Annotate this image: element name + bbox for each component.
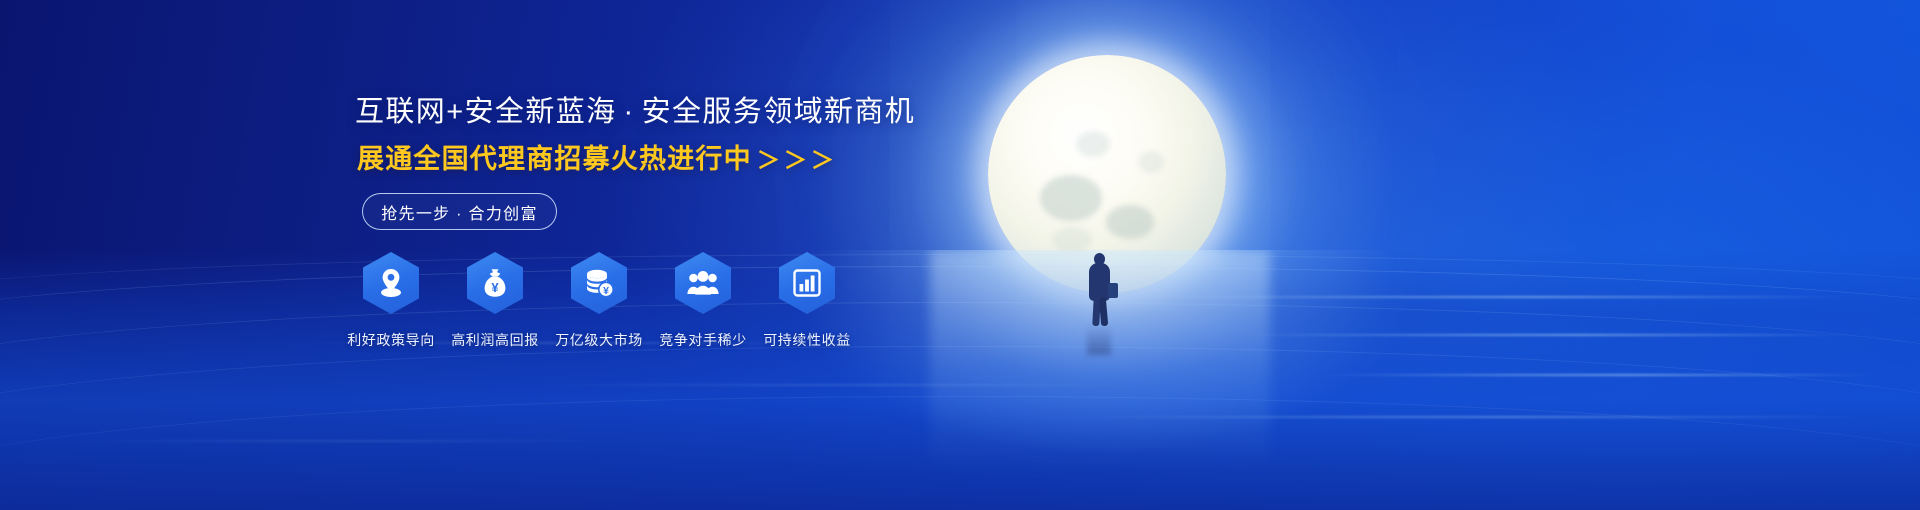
feature-label: 利好政策导向 xyxy=(347,330,435,350)
hexagon-badge xyxy=(363,252,419,314)
hexagon-badge: ¥ xyxy=(467,252,523,314)
feature-item[interactable]: ¥ 万亿级大市场 xyxy=(563,252,635,350)
cta-pill-button[interactable]: 抢先一步 · 合力创富 xyxy=(362,193,557,230)
feature-label: 竞争对手稀少 xyxy=(659,330,747,350)
hexagon-badge: ¥ xyxy=(571,252,627,314)
promo-banner: 互联网+安全新蓝海·安全服务领域新商机 展通全国代理商招募火热进行中＞＞＞ 抢先… xyxy=(0,0,1920,510)
subheadline-text: 展通全国代理商招募火热进行中 xyxy=(357,144,752,174)
svg-text:¥: ¥ xyxy=(491,280,499,295)
headline-separator: · xyxy=(617,96,642,128)
location-pin-icon xyxy=(378,268,404,298)
headline-part2: 安全服务领域新商机 xyxy=(642,96,916,128)
feature-item[interactable]: 竞争对手稀少 xyxy=(667,252,739,350)
coin-stack-yuan-icon: ¥ xyxy=(584,268,614,298)
banner-content: 互联网+安全新蓝海·安全服务领域新商机 展通全国代理商招募火热进行中＞＞＞ 抢先… xyxy=(0,0,1920,510)
banner-headline: 互联网+安全新蓝海·安全服务领域新商机 xyxy=(355,98,915,127)
headline-part1: 互联网+安全新蓝海 xyxy=(355,96,617,128)
svg-text:¥: ¥ xyxy=(603,285,609,297)
feature-label: 高利润高回报 xyxy=(451,330,539,350)
cta-pill-label: 抢先一步 · 合力创富 xyxy=(381,200,538,224)
hexagon-badge xyxy=(779,252,835,314)
chevron-right-icon: ＞＞＞ xyxy=(752,147,838,173)
hexagon-badge xyxy=(675,252,731,314)
money-bag-yuan-icon: ¥ xyxy=(481,268,509,298)
banner-subheadline: 展通全国代理商招募火热进行中＞＞＞ xyxy=(357,146,838,173)
feature-item[interactable]: ¥ 高利润高回报 xyxy=(459,252,531,350)
feature-list: 利好政策导向 ¥ 高利润高回报 ¥ 万亿级大市场 xyxy=(355,252,843,350)
feature-item[interactable]: 利好政策导向 xyxy=(355,252,427,350)
people-group-icon xyxy=(687,270,719,296)
feature-label: 可持续性收益 xyxy=(763,330,851,350)
feature-item[interactable]: 可持续性收益 xyxy=(771,252,843,350)
bar-chart-icon xyxy=(793,269,821,297)
feature-label: 万亿级大市场 xyxy=(555,330,643,350)
